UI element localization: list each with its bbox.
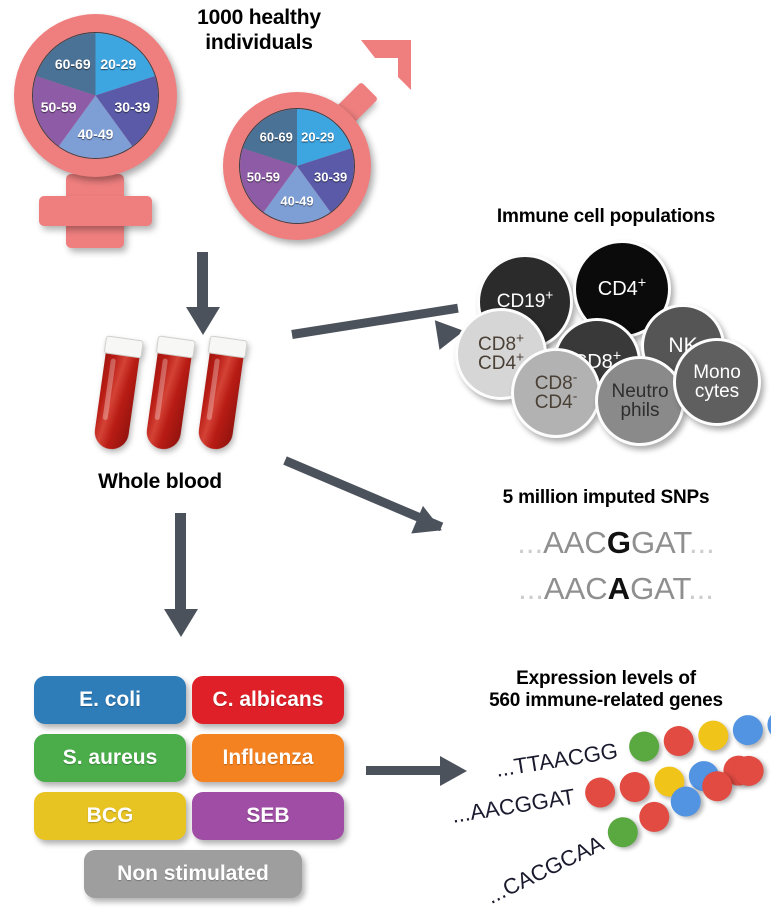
snp-suffix-dots: ... bbox=[689, 525, 715, 560]
snp-sequence-row-2: ...AACAGAT... bbox=[466, 571, 766, 607]
blood-tube-1 bbox=[91, 335, 144, 451]
title-expression-line2: 560 immune-related genes bbox=[443, 690, 769, 712]
pie-slice-label-50-59: 50-59 bbox=[247, 169, 280, 184]
snp-left-bases: AAC bbox=[544, 571, 608, 606]
title-expression-line1: Expression levels of bbox=[443, 668, 769, 690]
pie-slice-label-60-69: 60-69 bbox=[260, 130, 293, 145]
immune-cell-label: Neutrophils bbox=[611, 382, 668, 421]
stimulus-label: Non stimulated bbox=[117, 862, 269, 886]
rna-strand-sequence: ...TTAACGG bbox=[494, 738, 620, 783]
stimuli-box-group: E. coliC. albicansS. aureusInfluenzaBCGS… bbox=[34, 676, 354, 898]
pie-slice-label-30-39: 30-39 bbox=[114, 99, 150, 115]
immune-cell-label: CD8-CD4- bbox=[535, 374, 578, 413]
snp-variant-base: G bbox=[607, 525, 631, 560]
rna-strand-sequence: ...CACGCAA bbox=[482, 831, 608, 910]
female-symbol: 20-2930-3940-4950-5960-69 bbox=[14, 14, 194, 242]
blood-tubes-group bbox=[96, 338, 286, 458]
immune-cell-monocytes: Monocytes bbox=[673, 338, 761, 426]
stimulus-label: SEB bbox=[246, 804, 289, 828]
section-title-snps: 5 million imputed SNPs bbox=[443, 487, 769, 509]
snp-suffix-dots: ... bbox=[688, 571, 714, 606]
pie-slice-label-50-59: 50-59 bbox=[41, 99, 77, 115]
snp-prefix-dots: ... bbox=[517, 525, 543, 560]
section-title-expression: Expression levels of 560 immune-related … bbox=[443, 668, 769, 713]
stimulus-box-bcg[interactable]: BCG bbox=[34, 792, 186, 840]
immune-cell-label: Monocytes bbox=[693, 363, 741, 402]
blood-tube-2 bbox=[143, 335, 196, 451]
rna-strand-group: ...TTAACGG...AACGGAT...CACGCAA bbox=[448, 740, 771, 918]
blood-tube-body bbox=[93, 348, 141, 452]
snp-left-bases: AAC bbox=[543, 525, 607, 560]
stimulus-label: C. albicans bbox=[213, 688, 324, 712]
snp-sequence-group: ...AACGGAT......AACAGAT... bbox=[466, 525, 766, 615]
pie-slice-label-40-49: 40-49 bbox=[78, 126, 114, 142]
pie-slice-label-40-49: 40-49 bbox=[280, 194, 313, 209]
pie-slice-label-20-29: 20-29 bbox=[100, 56, 136, 72]
snp-prefix-dots: ... bbox=[518, 571, 544, 606]
stimulus-label: BCG bbox=[87, 804, 134, 828]
blood-tube-body bbox=[145, 348, 193, 452]
blood-tube-body bbox=[197, 348, 245, 452]
stimulus-label: E. coli bbox=[79, 688, 141, 712]
immune-cell-label: CD8+CD4+ bbox=[478, 335, 524, 374]
rna-bead-green bbox=[627, 729, 661, 763]
immune-cell-label: CD4+ bbox=[598, 279, 646, 299]
title-individuals-line1: 1000 healthy bbox=[168, 6, 350, 31]
snp-right-bases: GAT bbox=[630, 571, 688, 606]
stimulus-box-seb[interactable]: SEB bbox=[192, 792, 344, 840]
pie-slice-label-60-69: 60-69 bbox=[55, 56, 91, 72]
immune-cell-cd8cd4: CD8-CD4- bbox=[511, 348, 601, 438]
immune-cell-cluster: CD19+CD4+CD8+CD4+CD8+NKCD8-CD4-Neutrophi… bbox=[455, 240, 771, 420]
rna-bead-yellow bbox=[696, 718, 730, 752]
rna-bead-red bbox=[618, 770, 652, 804]
arrow-blood-to-stimuli-head bbox=[164, 609, 198, 637]
stimulus-box-influenza[interactable]: Influenza bbox=[192, 734, 344, 782]
arrow-individuals-to-blood bbox=[197, 252, 208, 310]
snp-sequence-row-1: ...AACGGAT... bbox=[466, 525, 766, 561]
stimulus-label: S. aureus bbox=[63, 746, 158, 770]
rna-bead-blue bbox=[731, 713, 765, 747]
male-arrow-head bbox=[355, 34, 415, 94]
stimulus-box-s-aureus[interactable]: S. aureus bbox=[34, 734, 186, 782]
stimulus-label: Influenza bbox=[222, 746, 313, 770]
arrow-individuals-to-blood-head bbox=[186, 307, 220, 335]
female-stem-cross bbox=[39, 196, 152, 226]
figure-canvas: 1000 healthy individuals 20-2930-3940-49… bbox=[0, 0, 771, 922]
snp-variant-base: A bbox=[608, 571, 630, 606]
section-title-immune-cells: Immune cell populations bbox=[443, 206, 769, 228]
age-pie-male: 20-2930-3940-4950-5960-69 bbox=[239, 108, 355, 224]
arrow-stimuli-to-expression bbox=[366, 766, 444, 775]
stimulus-box-non-stimulated[interactable]: Non stimulated bbox=[84, 850, 302, 898]
immune-cell-neutrophils: Neutrophils bbox=[595, 356, 685, 446]
snp-right-bases: GAT bbox=[631, 525, 689, 560]
arrow-blood-to-stimuli bbox=[175, 513, 186, 612]
age-pie-female: 20-2930-3940-4950-5960-69 bbox=[32, 32, 159, 159]
blood-tube-3 bbox=[195, 335, 248, 451]
stimulus-box-e-coli[interactable]: E. coli bbox=[34, 676, 186, 724]
rna-bead-red bbox=[583, 775, 617, 809]
male-symbol: 20-2930-3940-4950-5960-69 bbox=[205, 30, 423, 242]
rna-bead-red bbox=[634, 797, 674, 837]
label-whole-blood: Whole blood bbox=[70, 470, 250, 495]
rna-strand-sequence: ...AACGGAT bbox=[450, 784, 577, 829]
rna-bead-green bbox=[603, 812, 643, 852]
rna-bead-red bbox=[662, 724, 696, 758]
stimulus-box-c-albicans[interactable]: C. albicans bbox=[192, 676, 344, 724]
arrow-blood-to-immune-cells bbox=[291, 304, 458, 339]
pie-slice-label-30-39: 30-39 bbox=[314, 169, 347, 184]
pie-slice-label-20-29: 20-29 bbox=[301, 130, 334, 145]
